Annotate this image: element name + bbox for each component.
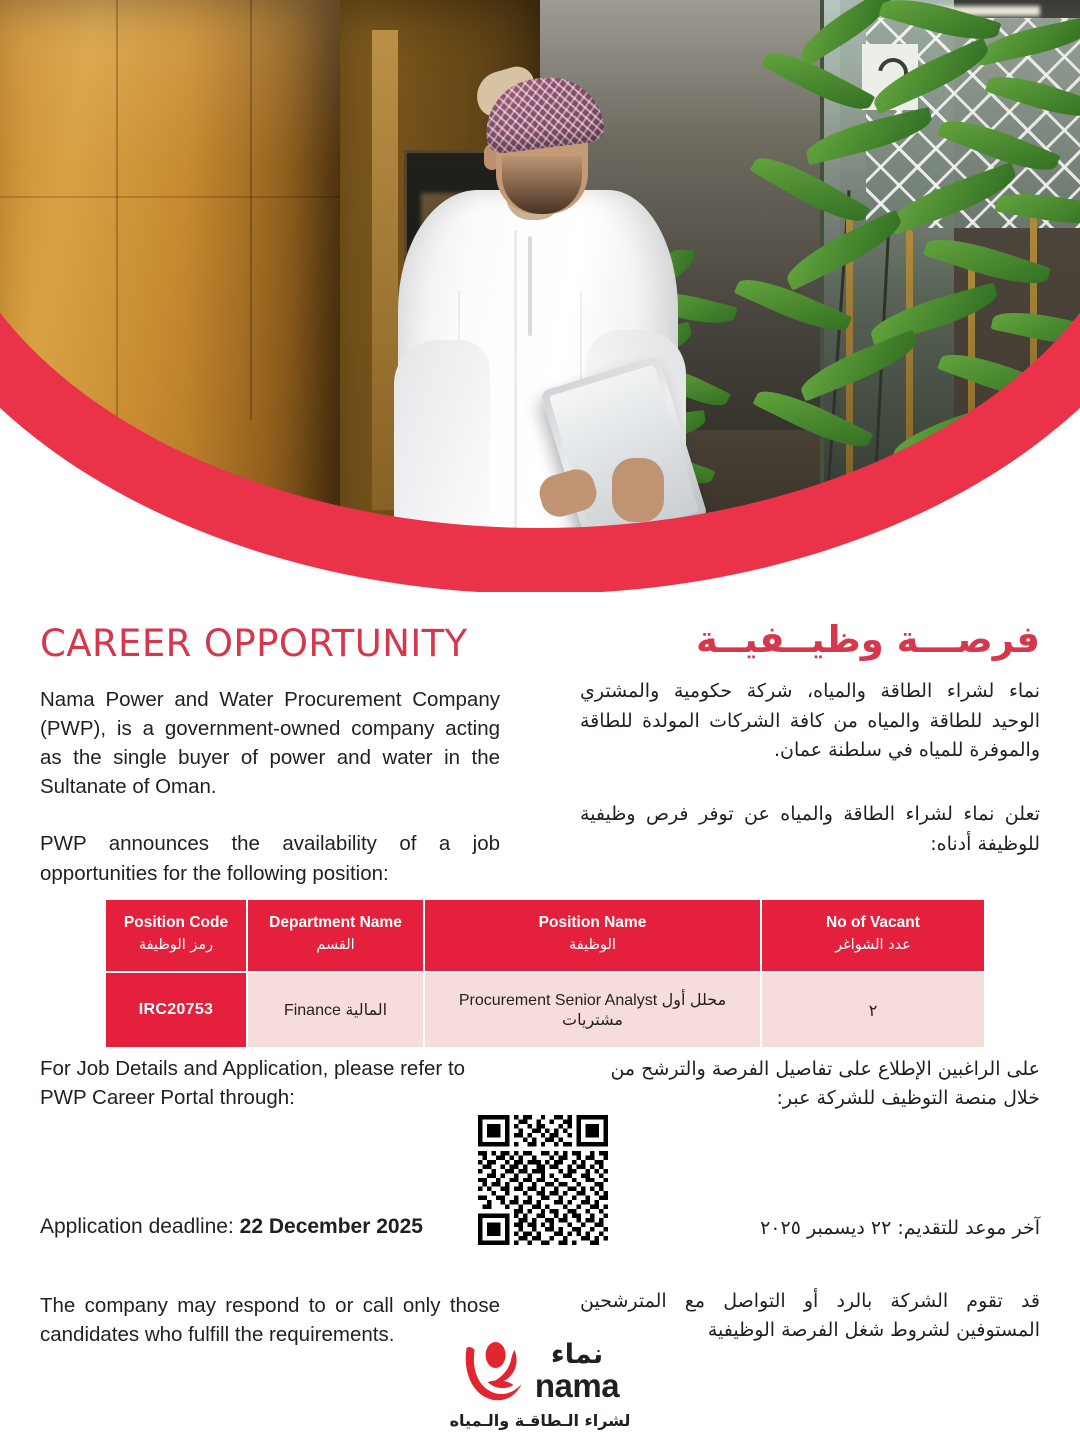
intro-paragraph-en: Nama Power and Water Procurement Company…	[40, 685, 500, 801]
header-label-ar: رمز الوظيفة	[112, 936, 240, 956]
vacancy-table: Position Code رمز الوظيفة Department Nam…	[104, 898, 986, 1049]
pwp-career-portal-qr-code[interactable]	[478, 1115, 608, 1245]
refer-text-ar: على الراغبين الإطلاع على تفاصيل الفرصة و…	[580, 1055, 1040, 1114]
header-label-ar: القسم	[254, 936, 417, 956]
hero-banner	[0, 0, 1080, 600]
logo-tagline: لشراء الـطاقـة والـمياه	[450, 1411, 631, 1430]
cell-position-code: IRC20753	[106, 973, 246, 1047]
arabic-column: فرصـــة وظيــفيــة نماء لشراء الطاقة وال…	[580, 600, 1040, 859]
header-label-en: Position Name	[431, 914, 754, 933]
intro-paragraph-ar: نماء لشراء الطاقة والمياه، شركة حكومية و…	[580, 677, 1040, 766]
table-row: IRC20753 Finance المالية Procurement Sen…	[106, 973, 984, 1047]
deadline-label-en: Application deadline:	[40, 1215, 234, 1238]
column-header-department-name: Department Name القسم	[248, 900, 423, 971]
nama-swoosh-icon	[461, 1338, 529, 1404]
english-column: CAREER OPPORTUNITY Nama Power and Water …	[40, 600, 500, 888]
refer-block-ar: على الراغبين الإطلاع على تفاصيل الفرصة و…	[580, 1055, 1040, 1114]
hero-bottom-cover	[0, 592, 1080, 600]
logo-name-arabic: نماء	[551, 1341, 603, 1368]
cell-no-of-vacant: ٢	[762, 973, 984, 1047]
header-label-ar: عدد الشواغر	[768, 936, 978, 956]
table-header-row: Position Code رمز الوظيفة Department Nam…	[106, 900, 984, 971]
refer-block-en: For Job Details and Application, please …	[40, 1055, 500, 1112]
header-label-ar: الوظيفة	[431, 936, 754, 956]
cell-department-name: Finance المالية	[248, 973, 423, 1047]
page-title-en: CAREER OPPORTUNITY	[40, 622, 500, 665]
header-label-en: Department Name	[254, 914, 417, 933]
poster-root: CAREER OPPORTUNITY Nama Power and Water …	[0, 0, 1080, 1440]
content-area: CAREER OPPORTUNITY Nama Power and Water …	[0, 600, 1080, 1440]
column-header-position-code: Position Code رمز الوظيفة	[106, 900, 246, 971]
header-label-en: No of Vacant	[768, 914, 978, 933]
red-arc-band	[0, 0, 1080, 594]
page-title-ar: فرصـــة وظيــفيــة	[580, 618, 1040, 661]
logo-name-english: nama	[535, 1369, 619, 1402]
announce-paragraph-en: PWP announces the availability of a job …	[40, 829, 500, 887]
application-deadline-en: Application deadline: 22 December 2025	[40, 1215, 470, 1239]
column-header-position-name: Position Name الوظيفة	[425, 900, 760, 971]
application-deadline-ar: آخر موعد للتقديم: ٢٢ ديسمبر ٢٠٢٥	[600, 1217, 1040, 1239]
nama-logo-block: نماء nama لشراء الـطاقـة والـمياه	[0, 1338, 1080, 1440]
header-label-en: Position Code	[112, 914, 240, 933]
column-header-no-of-vacant: No of Vacant عدد الشواغر	[762, 900, 984, 971]
cell-position-name: Procurement Senior Analyst محلل أول مشتر…	[425, 973, 760, 1047]
refer-text-en: For Job Details and Application, please …	[40, 1055, 500, 1112]
announce-paragraph-ar: تعلن نماء لشراء الطاقة والمياه عن توفر ف…	[580, 800, 1040, 859]
deadline-value-en: 22 December 2025	[240, 1215, 423, 1238]
